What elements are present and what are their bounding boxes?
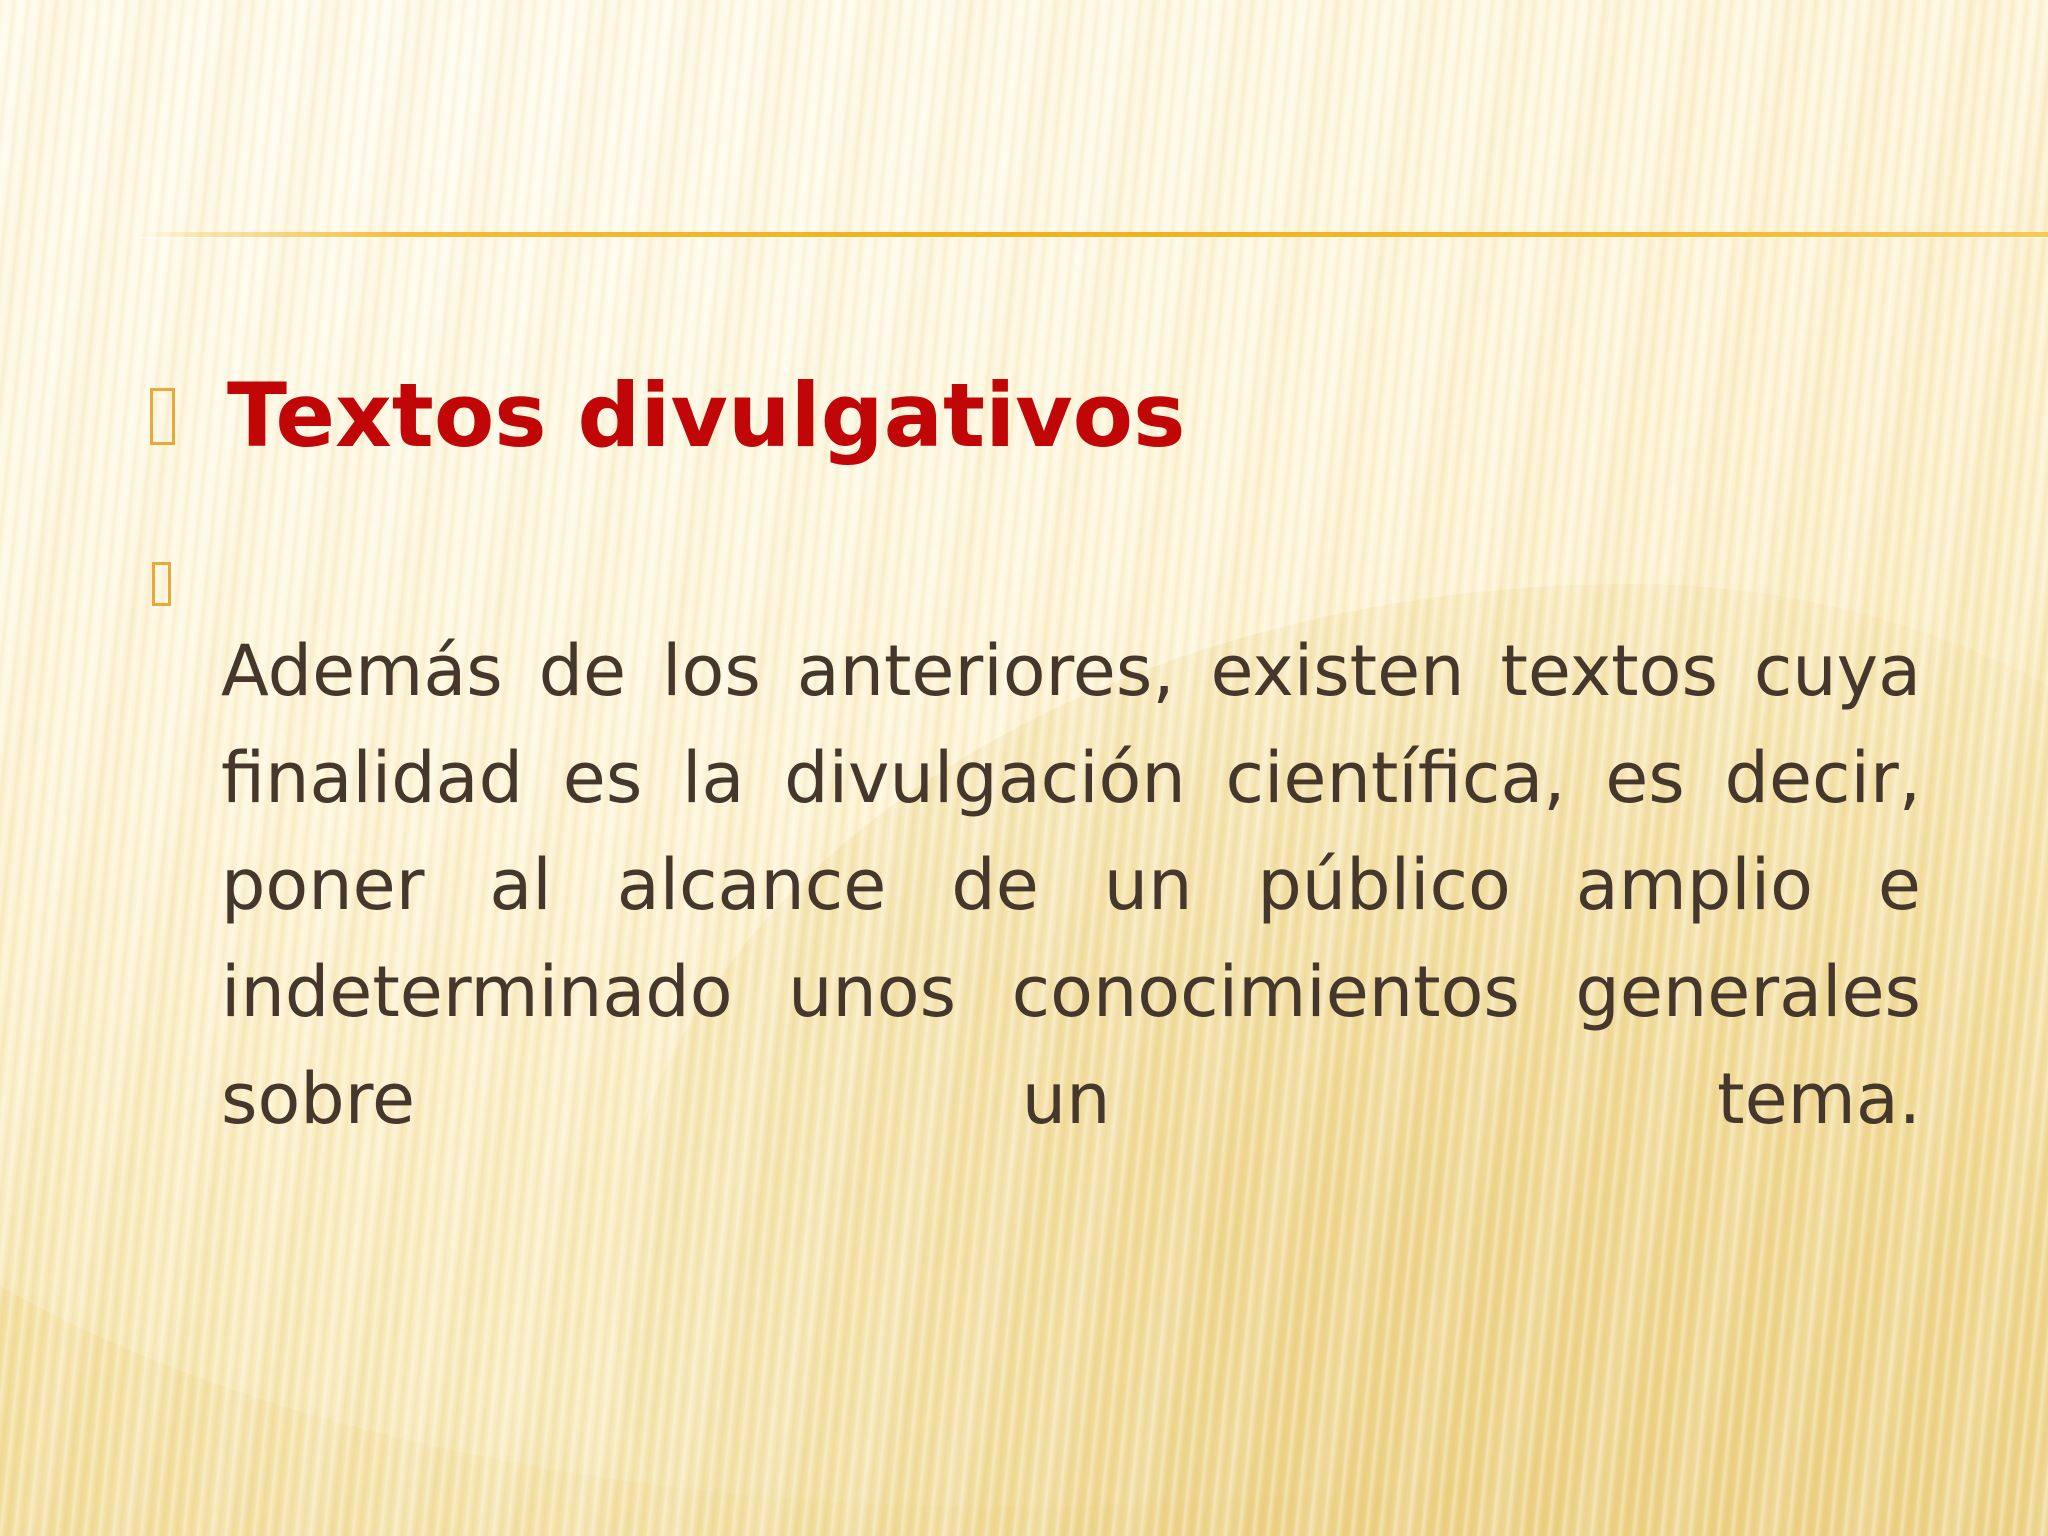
slide-body-paragraph: Además de los anteriores, existen textos… bbox=[221, 618, 1921, 1261]
body-bullet-row: Además de los anteriores, existen textos… bbox=[152, 548, 2000, 1331]
presentation-slide: Textos divulgativos Además de los anteri… bbox=[0, 0, 2048, 1536]
bullet-box-icon bbox=[152, 562, 171, 606]
title-bullet-row: Textos divulgativos bbox=[150, 372, 1950, 460]
slide-title: Textos divulgativos bbox=[227, 372, 1185, 460]
bullet-box-icon bbox=[150, 388, 175, 445]
slide-content: Textos divulgativos Además de los anteri… bbox=[0, 0, 2048, 1536]
